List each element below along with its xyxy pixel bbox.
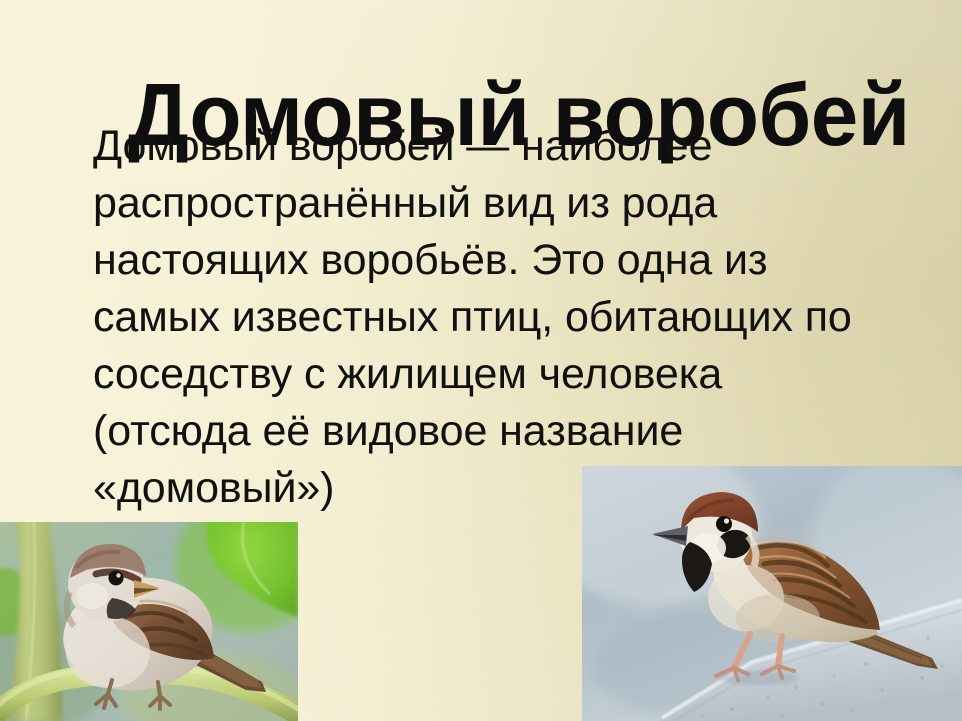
presentation-slide: Домовый воробей Домовый воробей — наибол… <box>0 0 962 721</box>
body-line-3: настоящих воробьёв. Это одна из <box>93 232 913 289</box>
left-photo-artwork <box>0 522 298 721</box>
eye <box>716 516 732 532</box>
sparrow-on-green-stem-photo <box>0 522 298 721</box>
slide-body-text: Домовый воробей — наиболее распространён… <box>93 118 913 517</box>
body-line-1: Домовый воробей — наиболее <box>93 118 913 175</box>
eye <box>109 571 124 586</box>
body-line-5: соседству с жилищем человека <box>93 346 913 403</box>
body-line-2: распространённый вид из рода <box>93 175 913 232</box>
body-line-7: «домовый») <box>93 460 913 517</box>
body-line-4: самых известных птиц, обитающих по <box>93 289 913 346</box>
body-line-6: (отсюда её видовое название <box>93 403 913 460</box>
